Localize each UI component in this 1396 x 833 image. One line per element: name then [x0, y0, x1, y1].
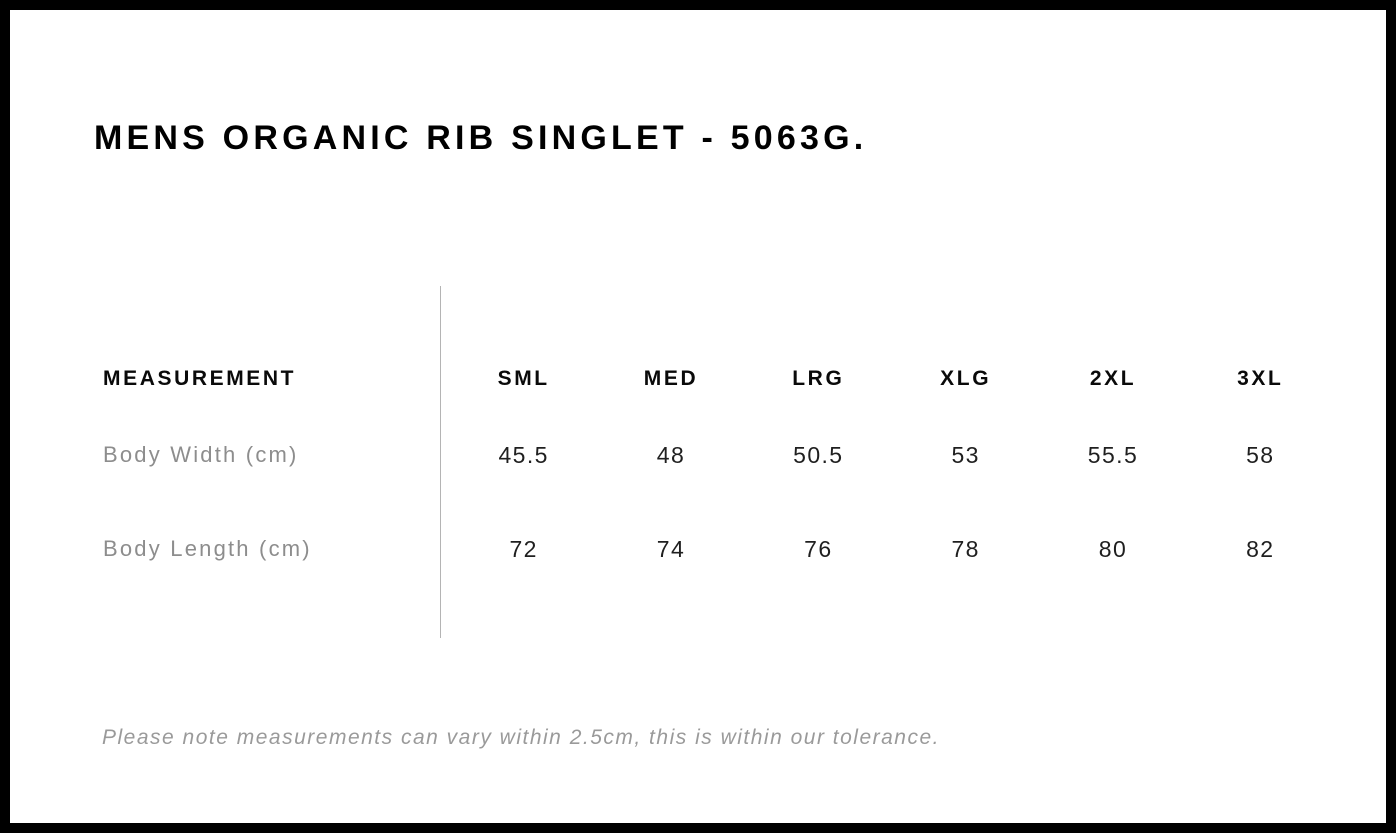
table-row: Body Width (cm) 45.5 48 50.5 53 55.5 58	[94, 408, 1334, 502]
row-label-body-width: Body Width (cm)	[94, 442, 450, 468]
column-header-lrg: LRG	[745, 367, 892, 391]
cell-body-length-med: 74	[597, 536, 744, 563]
table-header-row: MEASUREMENT SML MED LRG XLG 2XL 3XL	[94, 350, 1334, 408]
tolerance-note: Please note measurements can vary within…	[102, 726, 940, 750]
size-chart-table: MEASUREMENT SML MED LRG XLG 2XL 3XL Body…	[94, 350, 1334, 596]
column-header-xlg: XLG	[892, 367, 1039, 391]
size-chart-sheet: MENS ORGANIC RIB SINGLET - 5063G. MEASUR…	[10, 10, 1386, 823]
cell-body-length-3xl: 82	[1187, 536, 1334, 563]
column-header-sml: SML	[450, 367, 597, 391]
cell-body-width-lrg: 50.5	[745, 442, 892, 469]
cell-body-width-sml: 45.5	[450, 442, 597, 469]
table-row: Body Length (cm) 72 74 76 78 80 82	[94, 502, 1334, 596]
cell-body-width-med: 48	[597, 442, 744, 469]
cell-body-width-3xl: 58	[1187, 442, 1334, 469]
column-header-3xl: 3XL	[1187, 367, 1334, 391]
column-header-2xl: 2XL	[1039, 367, 1186, 391]
column-header-measurement: MEASUREMENT	[94, 367, 450, 391]
row-label-body-length: Body Length (cm)	[94, 536, 450, 562]
column-header-med: MED	[597, 367, 744, 391]
cell-body-length-2xl: 80	[1039, 536, 1186, 563]
page-title: MENS ORGANIC RIB SINGLET - 5063G.	[94, 116, 867, 160]
cell-body-length-lrg: 76	[745, 536, 892, 563]
cell-body-length-sml: 72	[450, 536, 597, 563]
page-border-frame: MENS ORGANIC RIB SINGLET - 5063G. MEASUR…	[0, 0, 1396, 833]
cell-body-width-2xl: 55.5	[1039, 442, 1186, 469]
cell-body-width-xlg: 53	[892, 442, 1039, 469]
cell-body-length-xlg: 78	[892, 536, 1039, 563]
